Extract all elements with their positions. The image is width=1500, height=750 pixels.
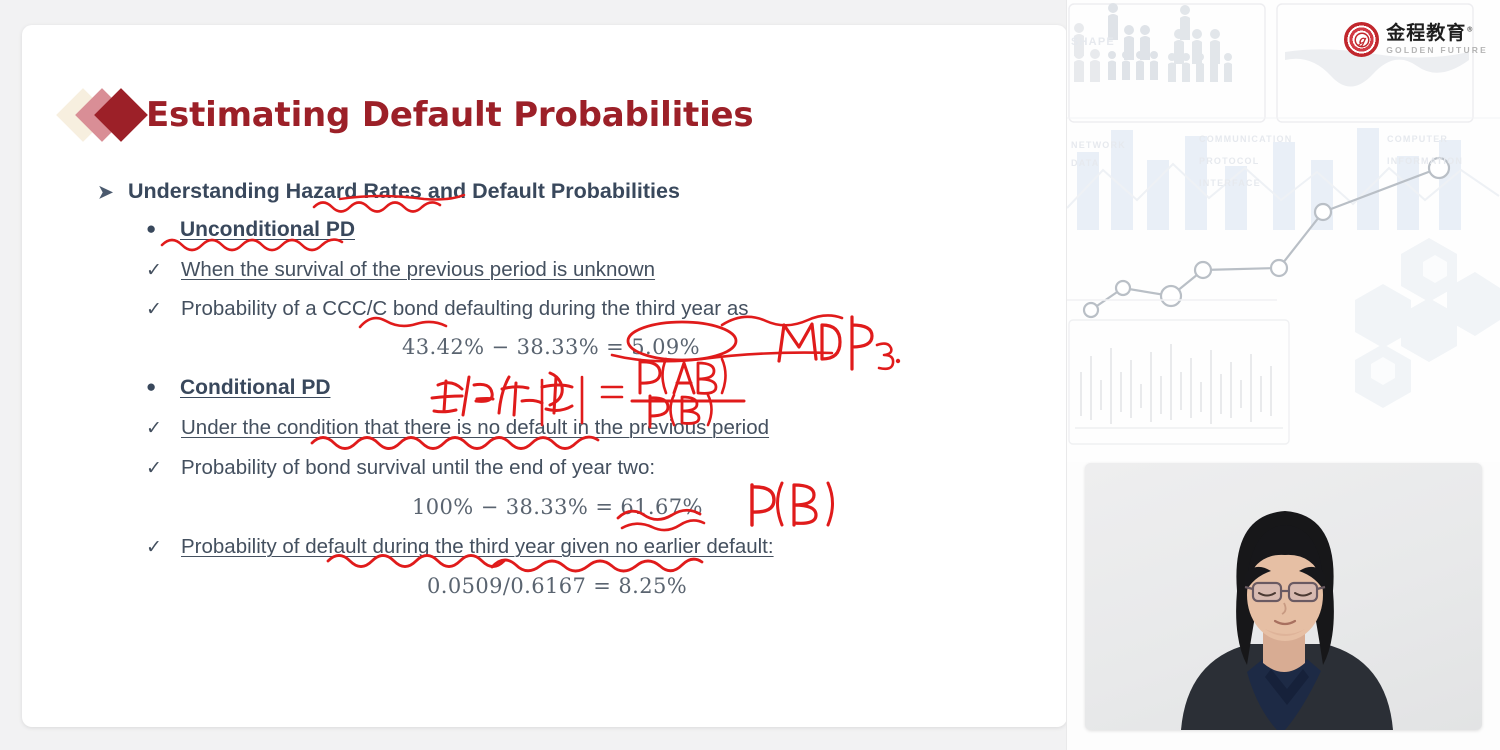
check-bullet-icon: ✓ xyxy=(146,536,181,559)
disc-bullet-icon: ● xyxy=(146,219,180,239)
bullet-uncond-item-2: ✓Probability of a CCC/C bond defaulting … xyxy=(146,297,748,321)
bullet-cond-item-1-label: Under the condition that there is no def… xyxy=(181,416,769,439)
bullet-level1-hazard-rates: ➤Understanding Hazard Rates and Default … xyxy=(98,179,680,204)
check-bullet-icon: ✓ xyxy=(146,298,181,321)
registered-mark: ® xyxy=(1466,26,1474,34)
check-bullet-icon: ✓ xyxy=(146,417,181,440)
logo-text-group: 金程教育® GOLDEN FUTURE xyxy=(1386,24,1488,55)
slide-card[interactable]: Estimating Default Probabilities ➤Unders… xyxy=(22,25,1067,727)
bg-label-information: INFORMATION xyxy=(1387,156,1463,166)
bullet-cond-item-3-label: Probability of default during the third … xyxy=(181,535,774,558)
bullet-cond-item-2-label: Probability of bond survival until the e… xyxy=(181,456,655,479)
logo-english-name: GOLDEN FUTURE xyxy=(1386,46,1488,55)
bg-label-protocol: PROTOCOL xyxy=(1199,156,1259,166)
bullet-conditional-pd-label: Conditional PD xyxy=(180,376,331,399)
bg-label-shape: SHAPE xyxy=(1071,36,1115,48)
bullet-unconditional-pd-label: Unconditional PD xyxy=(180,218,355,241)
presenter-figure xyxy=(1085,463,1482,730)
slide-content: Estimating Default Probabilities ➤Unders… xyxy=(22,25,1067,727)
bullet-cond-item-3: ✓Probability of default during the third… xyxy=(146,535,774,559)
arrow-bullet-icon: ➤ xyxy=(98,182,128,203)
slide-body: ➤Understanding Hazard Rates and Default … xyxy=(22,25,1067,727)
right-panel: NETWORK DATA COMMUNICATION PROTOCOL INTE… xyxy=(1067,0,1500,750)
brand-logo: ℊ 金程教育® GOLDEN FUTURE xyxy=(1344,22,1488,57)
formula-unconditional: 43.42% − 38.33% = 5.09% xyxy=(402,335,700,359)
bullet-cond-item-2: ✓Probability of bond survival until the … xyxy=(146,456,655,480)
presenter-webcam[interactable] xyxy=(1085,463,1482,730)
infographic-background: NETWORK DATA COMMUNICATION PROTOCOL INTE… xyxy=(1067,0,1500,462)
bg-label-computer: COMPUTER xyxy=(1387,134,1448,144)
bullet-uncond-item-1-label: When the survival of the previous period… xyxy=(181,258,655,281)
check-bullet-icon: ✓ xyxy=(146,259,181,282)
bullet-conditional-pd: ●Conditional PD xyxy=(146,376,331,400)
bullet-level1-label: Understanding Hazard Rates and Default P… xyxy=(128,179,680,203)
bullet-cond-item-1: ✓Under the condition that there is no de… xyxy=(146,416,769,440)
disc-bullet-icon: ● xyxy=(146,377,180,397)
bullet-unconditional-pd: ●Unconditional PD xyxy=(146,218,355,242)
check-bullet-icon: ✓ xyxy=(146,457,181,480)
screen-root: Estimating Default Probabilities ➤Unders… xyxy=(0,0,1500,750)
logo-chinese-name: 金程教育® xyxy=(1386,24,1488,43)
bg-label-interface: INTERFACE xyxy=(1199,178,1261,188)
formula-survival: 100% − 38.33% = 61.67% xyxy=(412,495,703,519)
bg-label-communication: COMMUNICATION xyxy=(1199,134,1292,144)
bullet-uncond-item-2-label: Probability of a CCC/C bond defaulting d… xyxy=(181,297,748,320)
bullet-uncond-item-1: ✓When the survival of the previous perio… xyxy=(146,258,655,282)
bg-label-network: NETWORK xyxy=(1071,140,1126,150)
formula-conditional-result: 0.0509/0.6167 = 8.25% xyxy=(427,574,687,598)
seal-letter: ℊ xyxy=(1356,32,1367,48)
infographic-artwork-icon xyxy=(1067,0,1500,462)
seal-icon: ℊ xyxy=(1344,22,1379,57)
bg-label-data: DATA xyxy=(1071,158,1099,168)
